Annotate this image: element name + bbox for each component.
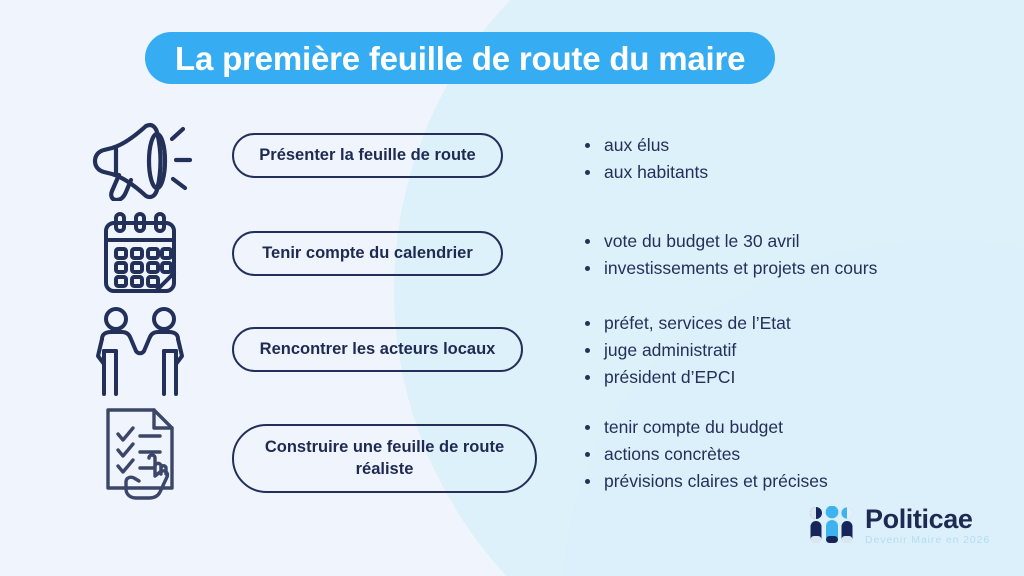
- list-item: actions concrètes: [582, 441, 1002, 468]
- step-label: Présenter la feuille de route: [237, 145, 497, 167]
- slide-canvas: La première feuille de route du maire Pr…: [0, 0, 1024, 576]
- brand-name: Politicae: [865, 506, 990, 533]
- brand-tagline: Devenir Maire en 2026: [865, 535, 990, 546]
- step-pill[interactable]: Présenter la feuille de route: [232, 133, 503, 178]
- list-item: juge administratif: [582, 337, 1002, 364]
- list-item: tenir compte du budget: [582, 414, 1002, 441]
- step-pill[interactable]: Construire une feuille de route réaliste: [232, 424, 537, 493]
- step-pill[interactable]: Tenir compte du calendrier: [232, 231, 503, 276]
- step-label: Rencontrer les acteurs locaux: [238, 339, 518, 361]
- list-item: vote du budget le 30 avril: [582, 228, 1002, 255]
- bullet-list: aux élus aux habitants: [582, 132, 1002, 186]
- list-item: président d’EPCI: [582, 364, 1002, 391]
- bullet-list: tenir compte du budget actions concrètes…: [582, 414, 1002, 495]
- brand-logo[interactable]: Politicae Devenir Maire en 2026: [808, 506, 990, 546]
- step-pill[interactable]: Rencontrer les acteurs locaux: [232, 327, 523, 372]
- handshake-icon: [84, 304, 196, 400]
- list-item: aux habitants: [582, 159, 1002, 186]
- list-item: préfet, services de l’Etat: [582, 310, 1002, 337]
- bullet-list: préfet, services de l’Etat juge administ…: [582, 310, 1002, 391]
- checklist-hand-icon: [84, 404, 196, 500]
- page-title: La première feuille de route du maire: [175, 42, 745, 75]
- list-item: investissements et projets en cours: [582, 255, 1002, 282]
- calendar-icon: [84, 208, 196, 304]
- step-label: Construire une feuille de route réaliste: [234, 437, 535, 481]
- slide-title-pill: La première feuille de route du maire: [145, 32, 775, 84]
- megaphone-icon: [84, 110, 196, 206]
- list-item: prévisions claires et précises: [582, 468, 1002, 495]
- step-label: Tenir compte du calendrier: [240, 243, 495, 265]
- bullet-list: vote du budget le 30 avril investissemen…: [582, 228, 1002, 282]
- brand-text: Politicae Devenir Maire en 2026: [865, 506, 990, 546]
- list-item: aux élus: [582, 132, 1002, 159]
- three-people-icon: [808, 506, 856, 546]
